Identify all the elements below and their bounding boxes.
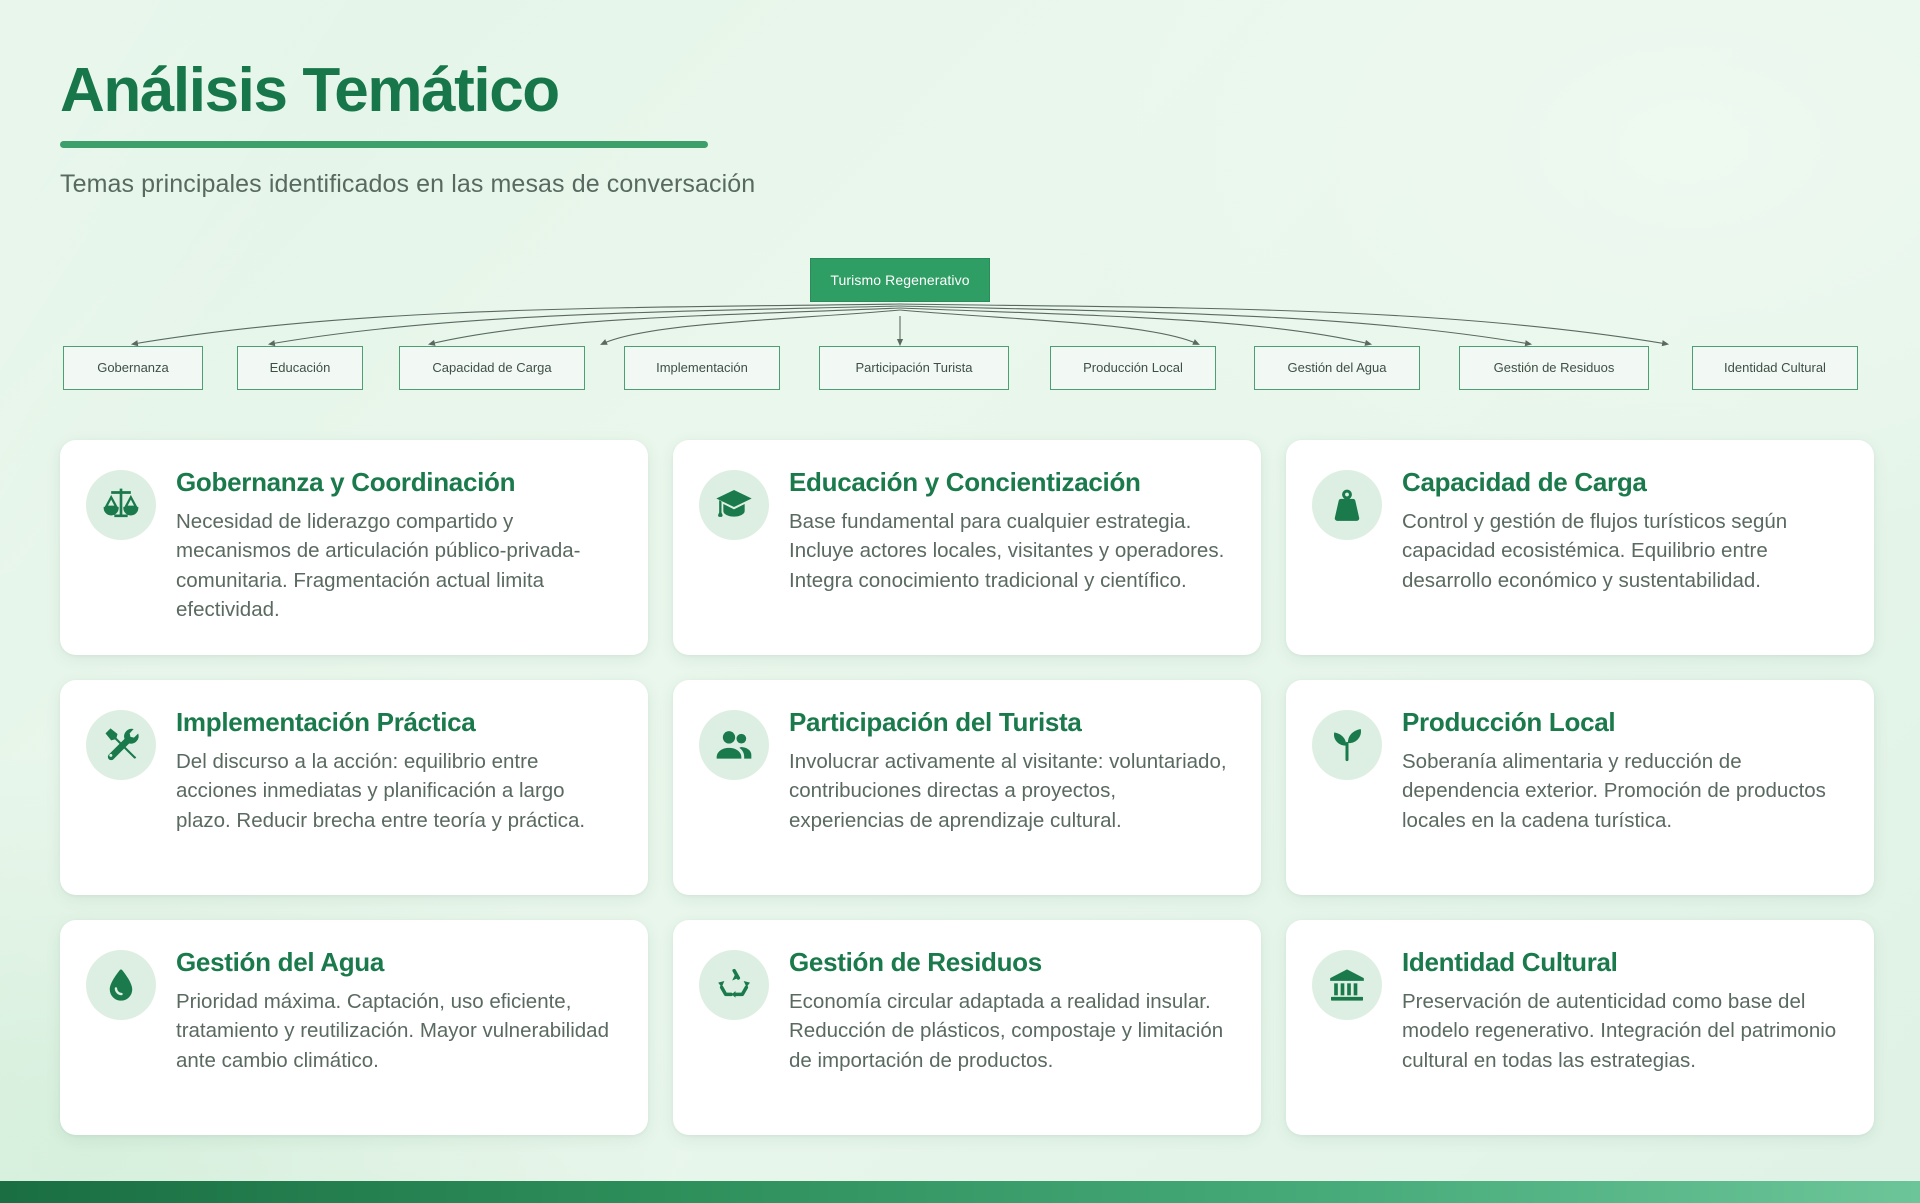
diagram-node-label: Identidad Cultural: [1724, 360, 1826, 376]
card-body: Gobernanza y Coordinación Necesidad de l…: [176, 466, 618, 624]
card-body: Gestión del Agua Prioridad máxima. Capta…: [176, 946, 618, 1075]
card-body: Identidad Cultural Preservación de auten…: [1402, 946, 1844, 1075]
diagram-root-node[interactable]: Turismo Regenerativo: [810, 258, 990, 302]
card-body: Educación y Concientización Base fundame…: [789, 466, 1231, 595]
card-title: Identidad Cultural: [1402, 948, 1844, 978]
diagram-node-label: Producción Local: [1083, 360, 1183, 376]
page-title: Análisis Temático: [60, 58, 755, 123]
theme-card-participacion-turista[interactable]: Participación del Turista Involucrar act…: [673, 680, 1261, 895]
museum-icon: [1312, 950, 1382, 1020]
card-text: Necesidad de liderazgo compartido y meca…: [176, 507, 618, 624]
page-subtitle: Temas principales identificados en las m…: [60, 170, 755, 199]
card-text: Prioridad máxima. Captación, uso eficien…: [176, 987, 618, 1075]
theme-card-produccion-local[interactable]: Producción Local Soberanía alimentaria y…: [1286, 680, 1874, 895]
card-title: Gobernanza y Coordinación: [176, 468, 618, 498]
diagram-node-gobernanza[interactable]: Gobernanza: [63, 346, 203, 390]
card-body: Capacidad de Carga Control y gestión de …: [1402, 466, 1844, 595]
diagram-node-label: Gobernanza: [97, 360, 169, 376]
card-title: Producción Local: [1402, 708, 1844, 738]
theme-card-identidad-cultural[interactable]: Identidad Cultural Preservación de auten…: [1286, 920, 1874, 1135]
card-text: Preservación de autenticidad como base d…: [1402, 987, 1844, 1075]
theme-card-gestion-del-agua[interactable]: Gestión del Agua Prioridad máxima. Capta…: [60, 920, 648, 1135]
theme-tree-diagram: Turismo Regenerativo Gobernanza Educació…: [0, 258, 1920, 418]
diagram-root-label: Turismo Regenerativo: [830, 272, 969, 289]
card-text: Base fundamental para cualquier estrateg…: [789, 507, 1231, 595]
diagram-node-label: Implementación: [656, 360, 748, 376]
card-text: Soberanía alimentaria y reducción de dep…: [1402, 747, 1844, 835]
diagram-node-label: Participación Turista: [855, 360, 972, 376]
card-body: Producción Local Soberanía alimentaria y…: [1402, 706, 1844, 835]
scales-icon: [86, 470, 156, 540]
graduation-cap-icon: [699, 470, 769, 540]
card-title: Implementación Práctica: [176, 708, 618, 738]
card-title: Capacidad de Carga: [1402, 468, 1844, 498]
seedling-icon: [1312, 710, 1382, 780]
theme-card-gobernanza[interactable]: Gobernanza y Coordinación Necesidad de l…: [60, 440, 648, 655]
diagram-node-educacion[interactable]: Educación: [237, 346, 363, 390]
card-body: Gestión de Residuos Economía circular ad…: [789, 946, 1231, 1075]
card-title: Gestión de Residuos: [789, 948, 1231, 978]
card-text: Economía circular adaptada a realidad in…: [789, 987, 1231, 1075]
recycle-icon: [699, 950, 769, 1020]
card-body: Participación del Turista Involucrar act…: [789, 706, 1231, 835]
theme-card-educacion[interactable]: Educación y Concientización Base fundame…: [673, 440, 1261, 655]
card-text: Control y gestión de flujos turísticos s…: [1402, 507, 1844, 595]
slide-root: Análisis Temático Temas principales iden…: [0, 0, 1920, 1203]
header: Análisis Temático Temas principales iden…: [60, 58, 755, 199]
diagram-node-capacidad-de-carga[interactable]: Capacidad de Carga: [399, 346, 585, 390]
diagram-node-label: Educación: [270, 360, 331, 376]
diagram-node-gestion-de-residuos[interactable]: Gestión de Residuos: [1459, 346, 1649, 390]
diagram-node-produccion-local[interactable]: Producción Local: [1050, 346, 1216, 390]
card-body: Implementación Práctica Del discurso a l…: [176, 706, 618, 835]
water-drop-icon: [86, 950, 156, 1020]
diagram-node-label: Gestión de Residuos: [1494, 360, 1615, 376]
card-title: Gestión del Agua: [176, 948, 618, 978]
diagram-node-label: Capacidad de Carga: [432, 360, 551, 376]
bottom-accent-bar: [0, 1181, 1920, 1203]
tools-icon: [86, 710, 156, 780]
people-icon: [699, 710, 769, 780]
title-underline: [60, 141, 708, 148]
diagram-node-identidad-cultural[interactable]: Identidad Cultural: [1692, 346, 1858, 390]
diagram-node-gestion-del-agua[interactable]: Gestión del Agua: [1254, 346, 1420, 390]
card-title: Educación y Concientización: [789, 468, 1231, 498]
diagram-node-label: Gestión del Agua: [1287, 360, 1386, 376]
card-text: Del discurso a la acción: equilibrio ent…: [176, 747, 618, 835]
theme-card-gestion-de-residuos[interactable]: Gestión de Residuos Economía circular ad…: [673, 920, 1261, 1135]
theme-cards-grid: Gobernanza y Coordinación Necesidad de l…: [60, 440, 1860, 1135]
weight-icon: [1312, 470, 1382, 540]
diagram-node-implementacion[interactable]: Implementación: [624, 346, 780, 390]
diagram-node-participacion-turista[interactable]: Participación Turista: [819, 346, 1009, 390]
theme-card-implementacion[interactable]: Implementación Práctica Del discurso a l…: [60, 680, 648, 895]
theme-card-capacidad-de-carga[interactable]: Capacidad de Carga Control y gestión de …: [1286, 440, 1874, 655]
card-title: Participación del Turista: [789, 708, 1231, 738]
card-text: Involucrar activamente al visitante: vol…: [789, 747, 1231, 835]
